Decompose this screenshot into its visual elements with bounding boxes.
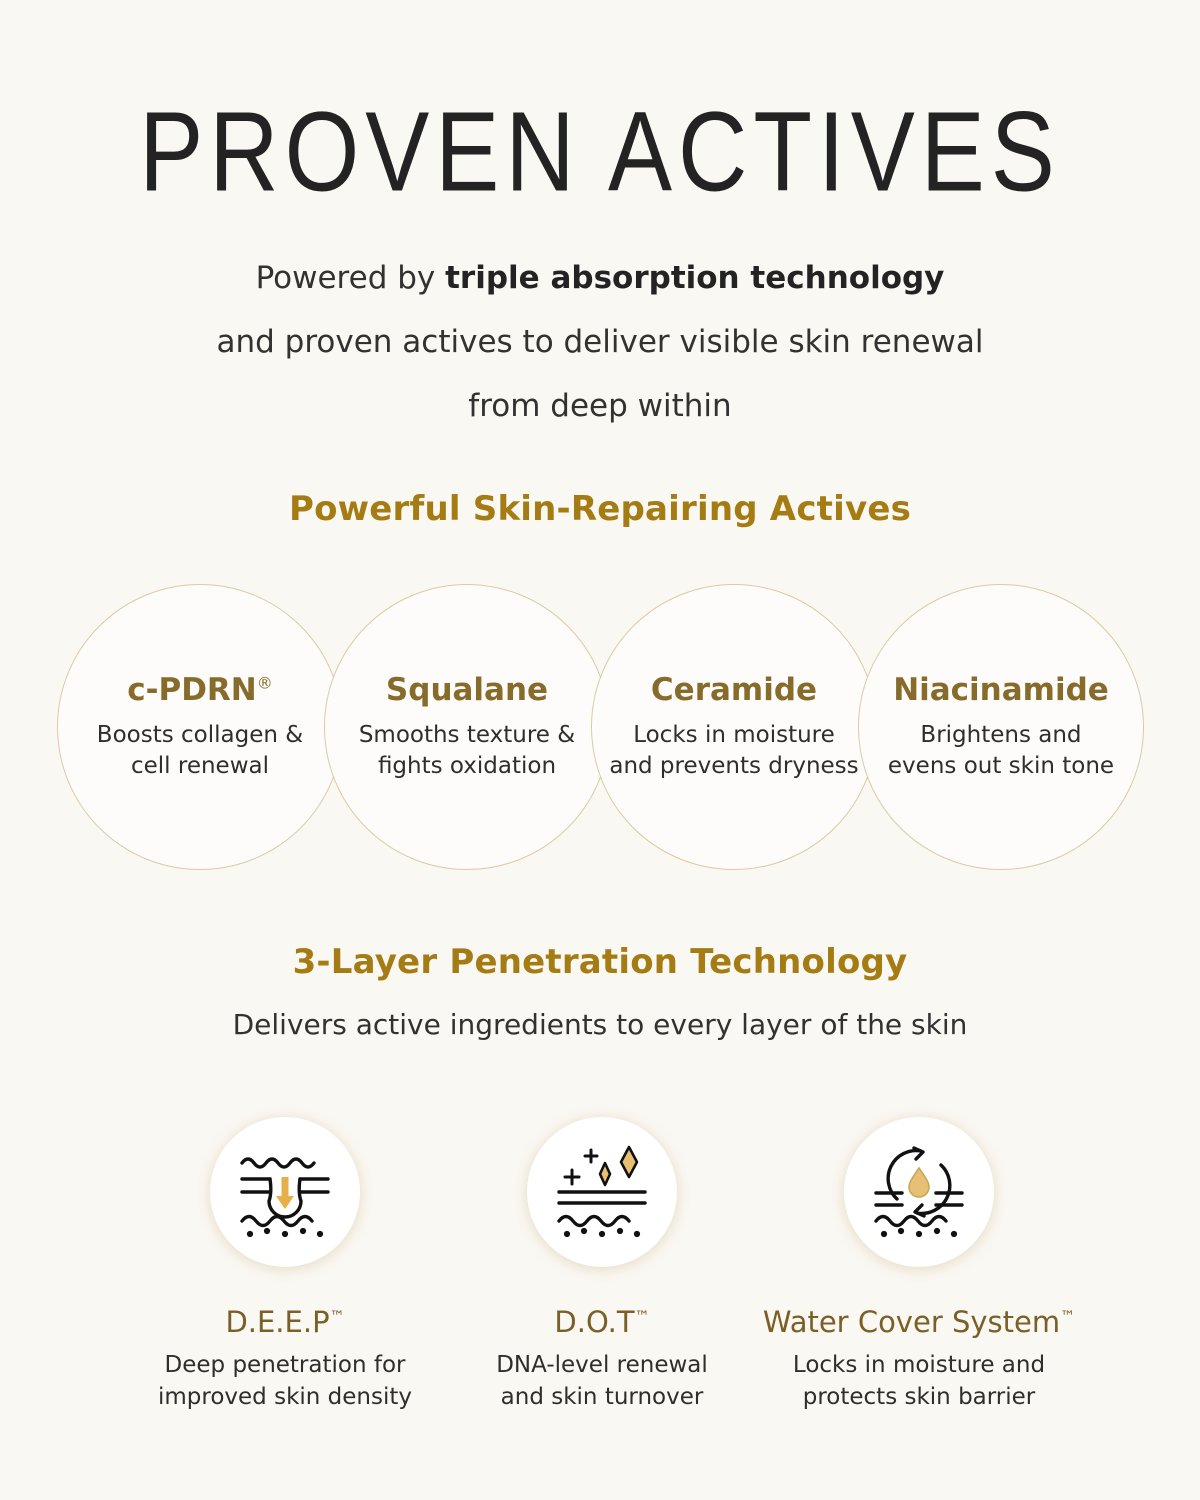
technology-name-text: D.E.E.P	[225, 1305, 329, 1339]
technology-desc-line-1: Deep penetration for	[120, 1349, 450, 1381]
ingredient-desc-line-1: Locks in moisture	[609, 720, 858, 751]
ingredient-description: Brightens and evens out skin tone	[888, 720, 1114, 782]
ingredient-description: Smooths texture & fights oxidation	[359, 720, 575, 782]
skin-sparkle-renewal-icon	[547, 1137, 657, 1247]
ingredient-description: Boosts collagen & cell renewal	[97, 720, 303, 782]
ingredient-name-text: c-PDRN	[127, 672, 257, 708]
technology-badge	[844, 1117, 994, 1267]
technology-desc-line-1: DNA-level renewal	[437, 1349, 767, 1381]
actives-section-heading: Powerful Skin-Repairing Actives	[0, 489, 1200, 529]
skin-dots	[564, 1228, 640, 1237]
technology-name: D.E.E.P™	[120, 1305, 450, 1339]
skin-dots	[881, 1228, 957, 1237]
technology-item-deep: D.E.E.P™ Deep penetration for improved s…	[120, 1117, 450, 1413]
ingredient-name-text: Niacinamide	[893, 672, 1109, 708]
infographic-page: PROVEN ACTIVES Powered by triple absorpt…	[0, 0, 1200, 1500]
ingredient-circle-group: c-PDRN® Boosts collagen & cell renewal S…	[0, 584, 1200, 880]
ingredient-circle-c-pdrn: c-PDRN® Boosts collagen & cell renewal	[57, 584, 343, 870]
technology-section-heading: 3-Layer Penetration Technology	[0, 942, 1200, 982]
technology-badge	[527, 1117, 677, 1267]
technology-section-subheading: Delivers active ingredients to every lay…	[0, 1008, 1200, 1041]
pore-dots	[247, 1228, 323, 1237]
trademark-mark-icon: ™	[1060, 1307, 1075, 1325]
technology-description: Deep penetration for improved skin densi…	[120, 1349, 450, 1413]
technology-item-dot: D.O.T™ DNA-level renewal and skin turnov…	[437, 1117, 767, 1413]
technology-desc-line-2: and skin turnover	[437, 1381, 767, 1413]
ingredient-circle-ceramide: Ceramide Locks in moisture and prevents …	[591, 584, 877, 870]
registered-mark-icon: ®	[257, 674, 273, 693]
trademark-mark-icon: ™	[330, 1307, 345, 1325]
subtitle-prefix: Powered by	[256, 260, 446, 296]
technology-item-group: D.E.E.P™ Deep penetration for improved s…	[0, 1117, 1200, 1457]
water-droplet-cycle-icon	[864, 1137, 974, 1247]
technology-desc-line-2: improved skin density	[120, 1381, 450, 1413]
water-droplet-icon	[909, 1168, 929, 1197]
ingredient-desc-line-1: Brightens and	[888, 720, 1114, 751]
technology-item-water-cover: Water Cover System™ Locks in moisture an…	[754, 1117, 1084, 1413]
technology-desc-line-1: Locks in moisture and	[754, 1349, 1084, 1381]
ingredient-desc-line-2: and prevents dryness	[609, 751, 858, 782]
ingredient-name-text: Squalane	[386, 672, 548, 708]
ingredient-name: Ceramide	[651, 672, 817, 708]
subtitle-block: Powered by triple absorption technology …	[0, 246, 1200, 438]
absorption-arrow-icon	[276, 1177, 294, 1209]
ingredient-circle-squalane: Squalane Smooths texture & fights oxidat…	[324, 584, 610, 870]
technology-name: Water Cover System™	[754, 1305, 1084, 1339]
ingredient-name: c-PDRN®	[127, 672, 273, 708]
technology-name-text: D.O.T	[554, 1305, 634, 1339]
skin-pore-absorption-icon	[230, 1137, 340, 1247]
page-title: PROVEN ACTIVES	[0, 96, 1200, 209]
ingredient-name-text: Ceramide	[651, 672, 817, 708]
ingredient-circle-niacinamide: Niacinamide Brightens and evens out skin…	[858, 584, 1144, 870]
ingredient-name: Squalane	[386, 672, 548, 708]
technology-name: D.O.T™	[437, 1305, 767, 1339]
technology-name-text: Water Cover System	[763, 1305, 1060, 1339]
ingredient-name: Niacinamide	[893, 672, 1109, 708]
ingredient-desc-line-2: fights oxidation	[359, 751, 575, 782]
subtitle-emphasis: triple absorption technology	[445, 260, 944, 296]
trademark-mark-icon: ™	[635, 1307, 650, 1325]
subtitle-line-1: Powered by triple absorption technology	[0, 246, 1200, 310]
ingredient-desc-line-2: cell renewal	[97, 751, 303, 782]
subtitle-line-3: from deep within	[0, 374, 1200, 438]
technology-desc-line-2: protects skin barrier	[754, 1381, 1084, 1413]
technology-description: Locks in moisture and protects skin barr…	[754, 1349, 1084, 1413]
plus-sparkle-icons	[565, 1150, 597, 1184]
ingredient-desc-line-1: Boosts collagen &	[97, 720, 303, 751]
star-sparkle-icons	[600, 1147, 637, 1185]
subtitle-line-2: and proven actives to deliver visible sk…	[0, 310, 1200, 374]
ingredient-desc-line-1: Smooths texture &	[359, 720, 575, 751]
technology-description: DNA-level renewal and skin turnover	[437, 1349, 767, 1413]
ingredient-description: Locks in moisture and prevents dryness	[609, 720, 858, 782]
technology-badge	[210, 1117, 360, 1267]
ingredient-desc-line-2: evens out skin tone	[888, 751, 1114, 782]
